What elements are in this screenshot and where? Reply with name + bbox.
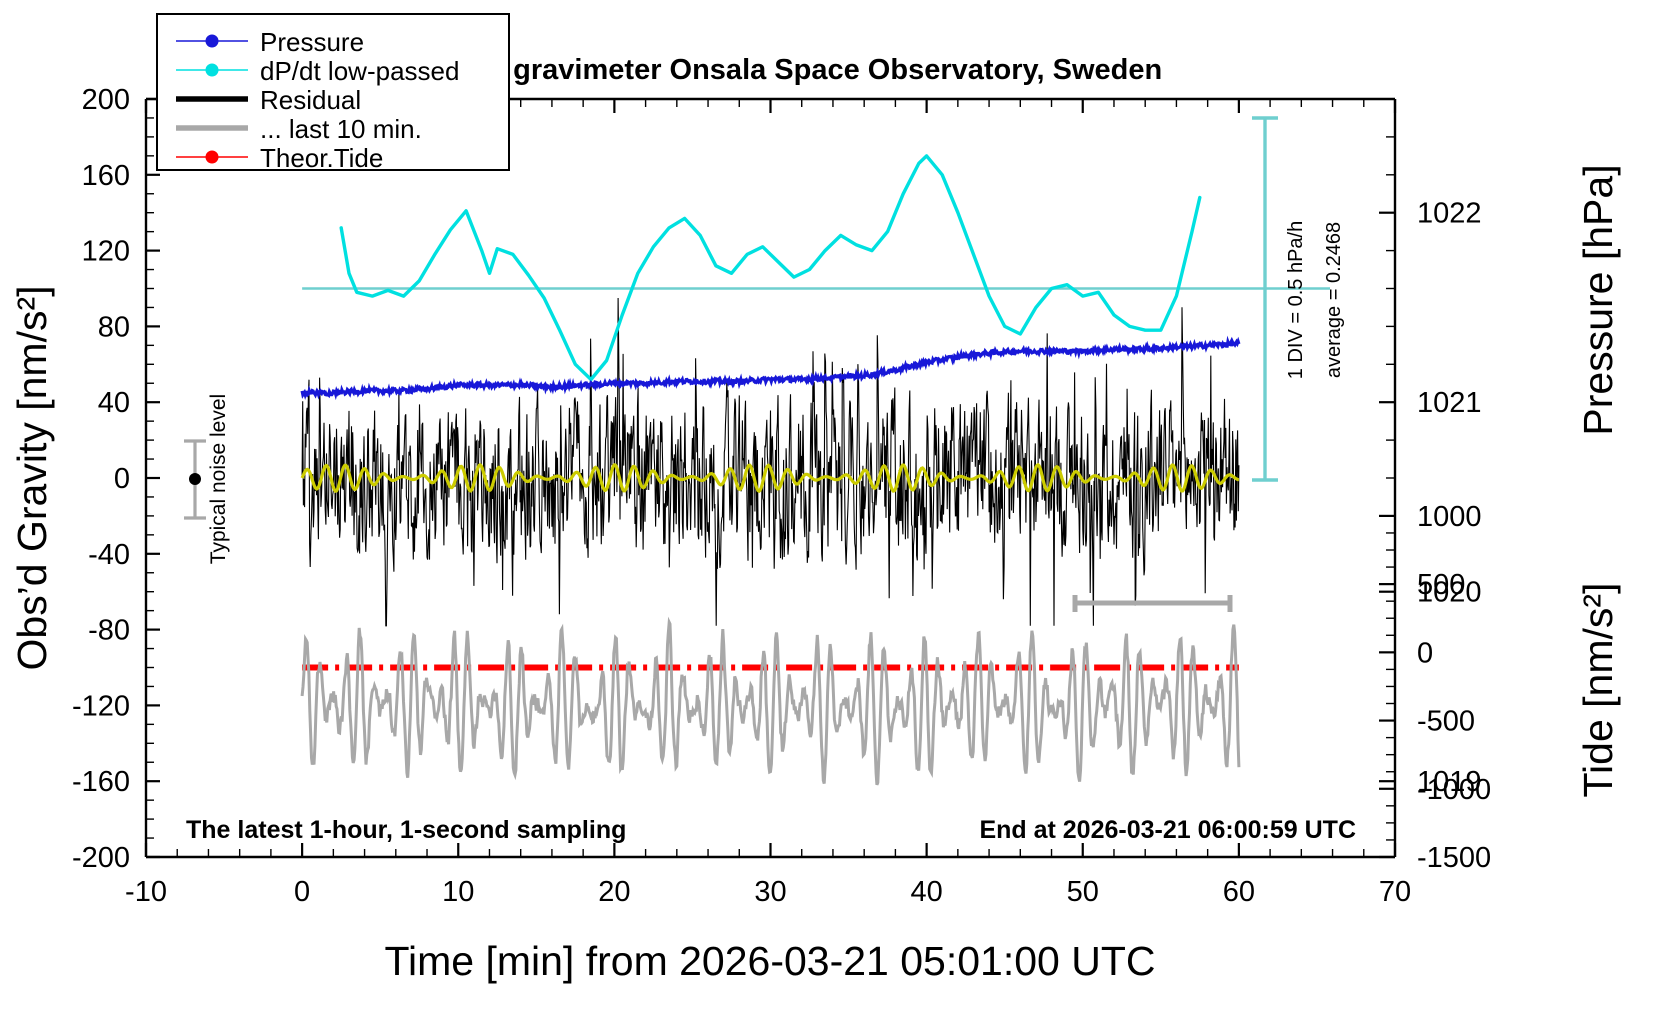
- tide-tick-label: -1000: [1417, 774, 1491, 806]
- chart-page: -1001020304050607020016012080400-40-80-1…: [0, 0, 1660, 1020]
- tide-tick-label: 1000: [1417, 501, 1482, 533]
- legend-marker-dot: [206, 151, 219, 164]
- x-tick-label: 50: [1067, 876, 1099, 908]
- x-tick-label: -10: [125, 876, 167, 908]
- x-axis-title: Time [min] from 2026-03-21 05:01:00 UTC: [385, 938, 1156, 984]
- typical-noise-level-label: Typical noise level: [207, 394, 230, 564]
- legend-label: Theor.Tide: [260, 143, 383, 173]
- y-tick-label: 0: [114, 463, 130, 495]
- x-tick-label: 70: [1379, 876, 1411, 908]
- y-tick-label: 80: [98, 311, 130, 343]
- annotation-bottom-left: The latest 1-hour, 1-second sampling: [186, 816, 626, 844]
- legend-label: Residual: [260, 85, 361, 115]
- tide-tick-label: 0: [1417, 637, 1433, 669]
- y-tick-label: 160: [82, 160, 130, 192]
- pressure-tick-label: 1021: [1417, 387, 1482, 419]
- tide-tick-label: 500: [1417, 569, 1465, 601]
- tide-tick-label: -500: [1417, 706, 1475, 738]
- legend-label: Pressure: [260, 27, 364, 57]
- y-tick-label: 120: [82, 236, 130, 268]
- legend-label: ... last 10 min.: [260, 114, 422, 144]
- y-tick-label: -200: [72, 842, 130, 874]
- y-axis-title-left: Obs’d Gravity [nm/s²]: [9, 285, 55, 670]
- dpdt-average-label: average = 0.2468: [1323, 222, 1345, 378]
- legend-marker-dot: [206, 35, 219, 48]
- x-tick-label: 40: [910, 876, 942, 908]
- y-tick-label: 200: [82, 84, 130, 116]
- legend-label: dP/dt low-passed: [260, 56, 459, 86]
- gravimeter-chart: -1001020304050607020016012080400-40-80-1…: [0, 0, 1660, 1020]
- y-tick-label: -80: [88, 615, 130, 647]
- y-tick-label: -120: [72, 690, 130, 722]
- x-tick-label: 10: [442, 876, 474, 908]
- y-tick-label: 40: [98, 387, 130, 419]
- pressure-tick-label: 1022: [1417, 198, 1482, 230]
- x-tick-label: 0: [294, 876, 310, 908]
- legend-marker-dot: [206, 64, 219, 77]
- y-axis-title-pressure: Pressure [hPa]: [1575, 164, 1621, 435]
- annotation-bottom-right: End at 2026-03-21 06:00:59 UTC: [979, 816, 1356, 844]
- x-tick-label: 30: [754, 876, 786, 908]
- y-tick-label: -40: [88, 539, 130, 571]
- x-tick-label: 20: [598, 876, 630, 908]
- y-tick-label: -160: [72, 766, 130, 798]
- tide-tick-label: -1500: [1417, 842, 1491, 874]
- x-tick-label: 60: [1223, 876, 1255, 908]
- legend: PressuredP/dt low-passedResidual... last…: [157, 14, 509, 173]
- y-axis-title-tide: Tide [nm/s²]: [1575, 583, 1621, 798]
- dpdt-div-label: 1 DIV = 0.5 hPa/h: [1285, 221, 1307, 379]
